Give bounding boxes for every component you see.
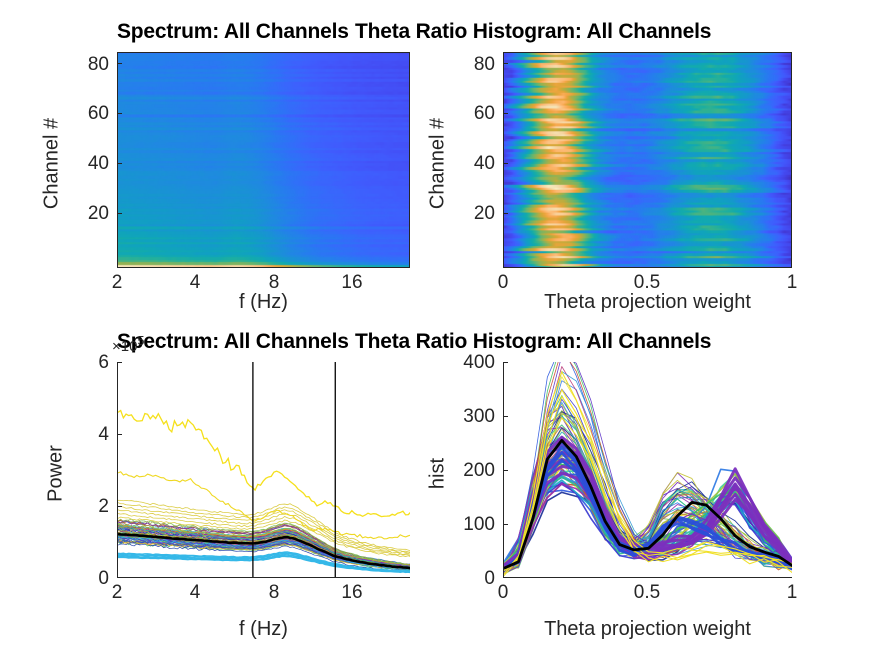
tickmark <box>117 434 122 435</box>
exponent-power: 5 <box>137 334 144 348</box>
tickmark <box>503 163 508 164</box>
spectrum-heatmap-xlabel: f (Hz) <box>117 291 410 314</box>
tickmark <box>503 416 508 417</box>
theta-ratio-lines-ytick-400: 400 <box>430 352 495 374</box>
theta-ratio-heatmap-xtick-0.5: 0.5 <box>627 272 667 294</box>
spectrum-heatmap-ytick-20: 20 <box>63 203 109 225</box>
spectrum-lines-ylabel: Power <box>45 419 68 529</box>
tickmark <box>503 113 508 114</box>
theta-ratio-lines-xtick-0.5: 0.5 <box>627 582 667 604</box>
spectrum-heatmap-xtick-2: 2 <box>97 272 137 294</box>
panel-title-bottom-right: Theta Ratio Histogram: All Channels <box>355 330 711 354</box>
spectrum-lines-plot <box>118 362 410 578</box>
theta-ratio-heatmap-image <box>504 53 791 267</box>
spectrum-lines-axes <box>117 362 410 578</box>
theta-ratio-lines-ytick-200: 200 <box>430 460 495 482</box>
matlab-figure: Spectrum: All Channels Theta Ratio Histo… <box>0 0 875 656</box>
panel-title-top-left: Spectrum: All Channels <box>117 20 349 44</box>
theta-ratio-heatmap-xlabel: Theta projection weight <box>503 291 792 314</box>
tickmark <box>503 63 508 64</box>
theta-ratio-lines-ytick-300: 300 <box>430 406 495 428</box>
tickmark <box>503 470 508 471</box>
tickmark <box>117 362 122 363</box>
tickmark <box>117 63 122 64</box>
spectrum-lines-xtick-4: 4 <box>175 582 215 604</box>
theta-ratio-lines-axes <box>503 362 792 578</box>
tickmark <box>503 362 508 363</box>
spectrum-lines-xtick-2: 2 <box>97 582 137 604</box>
spectrum-heatmap-xtick-8: 8 <box>254 272 294 294</box>
spectrum-lines-exponent: ×105 <box>112 334 144 355</box>
panel-title-bottom-left: Spectrum: All Channels <box>117 330 349 354</box>
theta-ratio-heatmap-ytick-60: 60 <box>449 103 495 125</box>
theta-ratio-lines-ytick-100: 100 <box>430 514 495 536</box>
theta-ratio-heatmap-axes <box>503 52 792 268</box>
tickmark <box>503 524 508 525</box>
tickmark <box>117 113 122 114</box>
theta-ratio-lines-plot <box>504 362 792 578</box>
spectrum-lines-ytick-4: 4 <box>70 424 109 446</box>
spectrum-lines-xtick-8: 8 <box>254 582 294 604</box>
theta-ratio-heatmap-ytick-20: 20 <box>449 203 495 225</box>
spectrum-heatmap-ytick-60: 60 <box>63 103 109 125</box>
theta-ratio-lines-xlabel: Theta projection weight <box>503 618 792 641</box>
theta-ratio-heatmap-ytick-80: 80 <box>449 54 495 76</box>
spectrum-heatmap-axes <box>117 52 410 268</box>
theta-ratio-lines-xtick-0: 0 <box>483 582 523 604</box>
spectrum-heatmap-xtick-4: 4 <box>175 272 215 294</box>
spectrum-heatmap-xtick-16: 16 <box>332 272 372 294</box>
theta-ratio-heatmap-ylabel: Channel # <box>427 104 450 224</box>
theta-ratio-lines-xtick-1: 1 <box>772 582 812 604</box>
spectrum-heatmap-ylabel: Channel # <box>41 104 64 224</box>
spectrum-heatmap-ytick-80: 80 <box>63 54 109 76</box>
spectrum-heatmap-ytick-40: 40 <box>63 153 109 175</box>
theta-ratio-heatmap-ytick-40: 40 <box>449 153 495 175</box>
theta-ratio-heatmap-xtick-1: 1 <box>772 272 812 294</box>
spectrum-lines-ytick-6: 6 <box>70 352 109 374</box>
exponent-mantissa: ×10 <box>112 338 137 355</box>
theta-ratio-heatmap-xtick-0: 0 <box>483 272 523 294</box>
tickmark <box>503 213 508 214</box>
spectrum-heatmap-image <box>118 53 409 267</box>
spectrum-lines-xtick-16: 16 <box>332 582 372 604</box>
spectrum-lines-ytick-2: 2 <box>70 496 109 518</box>
spectrum-lines-xlabel: f (Hz) <box>117 618 410 641</box>
panel-title-top-right: Theta Ratio Histogram: All Channels <box>355 20 711 44</box>
tickmark <box>117 213 122 214</box>
tickmark <box>117 506 122 507</box>
tickmark <box>117 163 122 164</box>
